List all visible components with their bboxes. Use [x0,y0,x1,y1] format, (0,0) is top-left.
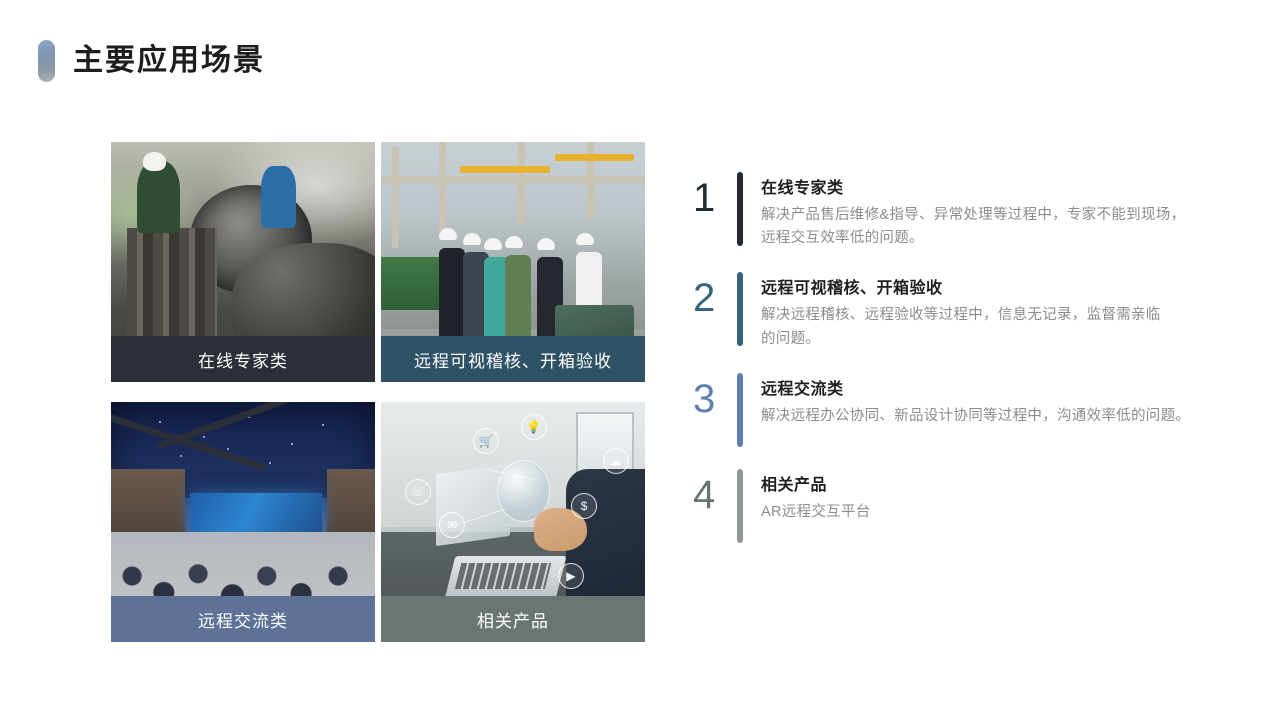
list-item-heading: 在线专家类 [761,174,1213,198]
list-item-accent-bar [737,272,743,346]
list-item-number: 2 [693,272,737,318]
list-item-description: 解决远程稽核、远程验收等过程中，信息无记录，监督需亲临的问题。 [761,304,1161,350]
cloud-icon: ☁ [603,448,629,474]
list-item-accent-bar [737,373,743,447]
list-item-accent-bar [737,172,743,246]
list-item-number: 4 [693,469,737,515]
card-remote-communication[interactable]: 远程交流类 [111,402,375,642]
list-item[interactable]: 4 相关产品 AR远程交互平台 [693,469,1213,543]
card-caption: 在线专家类 [111,336,375,382]
list-item-number: 1 [693,172,737,218]
card-remote-audit[interactable]: 远程可视稽核、开箱验收 [381,142,645,382]
list-item-heading: 远程可视稽核、开箱验收 [761,274,1213,298]
card-caption: 远程交流类 [111,596,375,642]
list-item-heading: 远程交流类 [761,375,1213,399]
card-caption: 相关产品 [381,596,645,642]
page-title: 主要应用场景 [38,40,265,82]
slide-root: 主要应用场景 在线专家类 [0,0,1280,720]
card-online-expert[interactable]: 在线专家类 [111,142,375,382]
list-item-description: AR远程交互平台 [761,501,1191,524]
bulb-icon: 💡 [521,414,547,440]
list-item[interactable]: 2 远程可视稽核、开箱验收 解决远程稽核、远程验收等过程中，信息无记录，监督需亲… [693,272,1213,350]
list-item-description: 解决远程办公协同、新品设计协同等过程中，沟通效率低的问题。 [761,405,1191,428]
card-caption: 远程可视稽核、开箱验收 [381,336,645,382]
list-item[interactable]: 3 远程交流类 解决远程办公协同、新品设计协同等过程中，沟通效率低的问题。 [693,373,1213,447]
play-icon: ▶ [558,563,584,589]
card-related-product[interactable]: 🛒 ✉ ☏ ☁ $ 💡 ▶ ▢ 相关产品 [381,402,645,642]
list-item-description: 解决产品售后维修&指导、异常处理等过程中，专家不能到现场，远程交互效率低的问题。 [761,204,1191,250]
phone-icon: ☏ [405,479,431,505]
list-item[interactable]: 1 在线专家类 解决产品售后维修&指导、异常处理等过程中，专家不能到现场，远程交… [693,172,1213,250]
page-title-text: 主要应用场景 [73,46,265,76]
image-grid: 在线专家类 [111,142,645,642]
pill-bullet-icon [38,40,55,82]
list-item-heading: 相关产品 [761,471,1213,495]
list-item-number: 3 [693,373,737,419]
scenario-list: 1 在线专家类 解决产品售后维修&指导、异常处理等过程中，专家不能到现场，远程交… [693,172,1213,565]
list-item-accent-bar [737,469,743,543]
